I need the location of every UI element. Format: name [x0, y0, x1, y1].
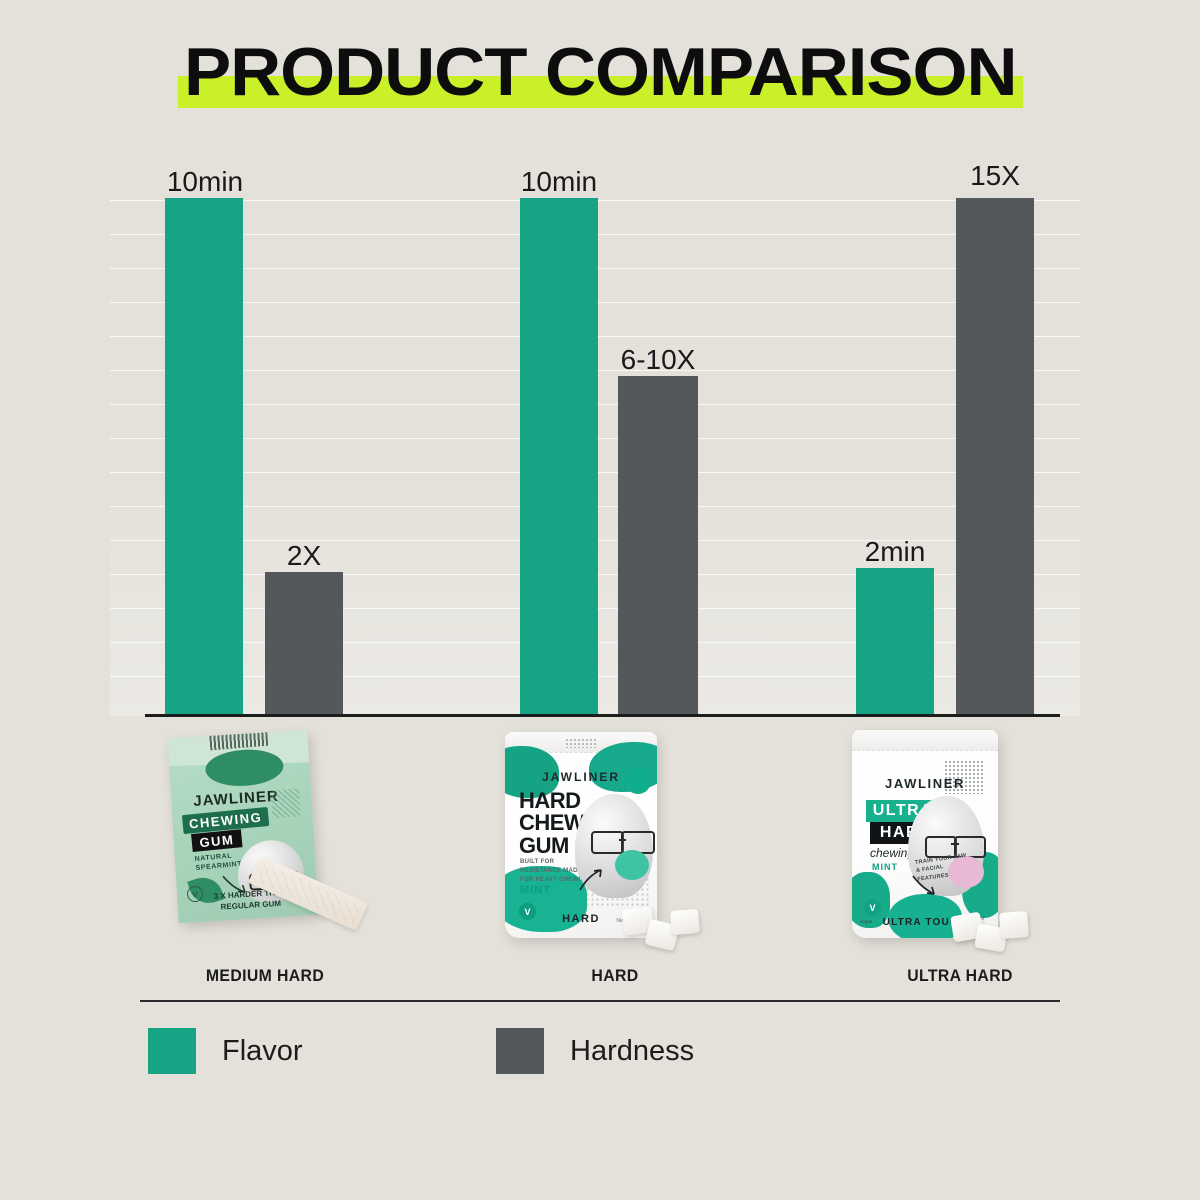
- x-axis-line: [145, 714, 1060, 717]
- perforation-icon: [565, 738, 597, 748]
- bar-hardness-ultra-hard[interactable]: [956, 198, 1034, 714]
- halftone-pattern: [271, 789, 301, 819]
- bar-label-flavor-medium-hard: 10min: [155, 166, 255, 198]
- brand-name-3: JAWLINER: [852, 776, 998, 791]
- products-row: JAWLINER CHEWING GUM NATURAL SPEARMINT: [0, 726, 1200, 976]
- product-category-medium-hard: MEDIUM HARD: [153, 966, 376, 986]
- bar-flavor-hard[interactable]: [520, 198, 598, 714]
- flavor-text-2: MINT: [520, 884, 551, 896]
- gum-piece: [670, 909, 700, 935]
- bar-hardness-hard[interactable]: [618, 376, 698, 714]
- bar-label-hardness-hard: 6-10X: [608, 344, 708, 376]
- bubble-gum-2: [615, 850, 649, 880]
- legend-label-hardness: Hardness: [570, 1035, 694, 1068]
- glasses-icon-2: [591, 831, 655, 850]
- package-hard: JAWLINER HARD CHEWING GUM BUILT FOR RESI…: [505, 732, 657, 938]
- product-category-ultra-hard: ULTRA HARD: [848, 966, 1071, 986]
- bar-flavor-ultra-hard[interactable]: [856, 568, 934, 714]
- chart-legend: Flavor Hardness: [148, 1028, 1068, 1076]
- legend-divider: [140, 1000, 1060, 1002]
- pouch-seal: [852, 730, 998, 751]
- lens-left: [591, 831, 624, 854]
- bar-label-flavor-hard: 10min: [509, 166, 609, 198]
- product-comparison-infographic: PRODUCT COMPARISON 10min 2X 10min 6-10X: [0, 0, 1200, 1200]
- legend-item-hardness[interactable]: Hardness: [496, 1028, 694, 1074]
- glasses-icon-3: [925, 836, 986, 854]
- glasses-bridge: [619, 839, 627, 842]
- brand-name-2: JAWLINER: [505, 770, 657, 784]
- flavor-text-3: MINT: [872, 862, 898, 872]
- product-medium-hard[interactable]: JAWLINER CHEWING GUM NATURAL SPEARMINT: [145, 726, 385, 961]
- bars-layer: 10min 2X 10min 6-10X 2min 15X: [0, 0, 1200, 714]
- package-ultra-hard: JAWLINER ULTRA HARD chewing gum MINT: [852, 730, 998, 938]
- bar-label-hardness-medium-hard: 2X: [254, 540, 354, 572]
- legend-item-flavor[interactable]: Flavor: [148, 1028, 303, 1074]
- bar-hardness-medium-hard[interactable]: [265, 572, 343, 714]
- bar-label-flavor-ultra-hard: 2min: [845, 536, 945, 568]
- legend-label-flavor: Flavor: [222, 1035, 303, 1068]
- glasses-bridge: [951, 843, 958, 846]
- vegan-badge-3: V: [864, 899, 881, 916]
- product-hard[interactable]: JAWLINER HARD CHEWING GUM BUILT FOR RESI…: [495, 726, 735, 961]
- product-category-hard: HARD: [503, 966, 726, 986]
- product-ultra-hard[interactable]: JAWLINER ULTRA HARD chewing gum MINT: [840, 726, 1080, 961]
- bar-flavor-medium-hard[interactable]: [165, 198, 243, 714]
- legend-swatch-flavor: [148, 1028, 196, 1074]
- arrow-icon-2: [579, 868, 605, 892]
- gum-tag-1: GUM: [191, 829, 242, 852]
- bar-label-hardness-ultra-hard: 15X: [945, 160, 1045, 192]
- gum-piece: [999, 911, 1029, 939]
- legend-swatch-hardness: [496, 1028, 544, 1074]
